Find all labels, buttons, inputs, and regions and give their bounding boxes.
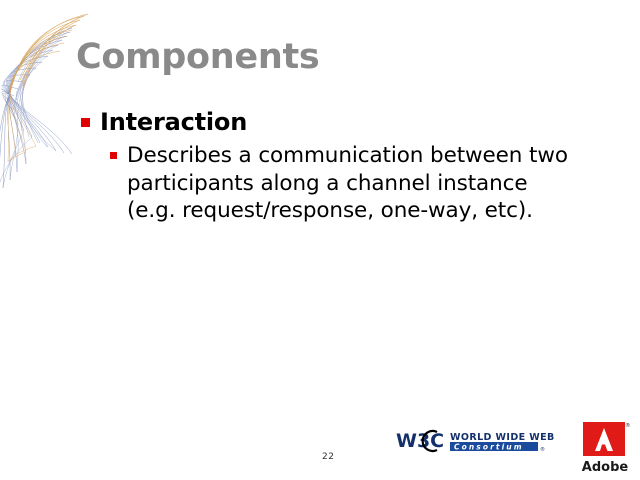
bullet-line: (e.g. request/response, one-way, etc).: [127, 197, 628, 225]
w3c-logo: W3C WORLD WIDE WEB Consortium ®: [396, 428, 556, 458]
slide-body: Interaction Describes a communication be…: [0, 108, 640, 225]
slide-canvas: Components Interaction Describes a commu…: [0, 0, 640, 480]
square-bullet-icon: [110, 152, 117, 159]
adobe-trademark-icon: ®: [625, 422, 631, 429]
bullet-line: Describes a communication between two: [127, 142, 628, 170]
w3c-trademark-icon: ®: [540, 446, 545, 453]
bullet-level2-text: Describes a communication between two pa…: [127, 142, 628, 225]
bullet-level1-label: Interaction: [100, 108, 247, 136]
page-number: 22: [322, 452, 334, 462]
bullet-line: participants along a channel instance: [127, 170, 628, 198]
adobe-logo: ® Adobe: [577, 420, 635, 478]
square-bullet-icon: [81, 118, 90, 127]
w3c-tagline-bar-label: Consortium: [454, 443, 524, 452]
slide-title: Components: [76, 38, 319, 77]
w3c-wordmark: W3C: [396, 430, 444, 452]
w3c-tagline-top: WORLD WIDE WEB: [450, 432, 555, 443]
bullet-level1: Interaction: [0, 108, 640, 136]
bullet-level2: Describes a communication between two pa…: [0, 142, 640, 225]
adobe-logo-svg: ® Adobe: [577, 420, 635, 478]
w3c-logo-svg: W3C WORLD WIDE WEB Consortium ®: [396, 428, 556, 458]
adobe-wordmark: Adobe: [582, 460, 629, 475]
